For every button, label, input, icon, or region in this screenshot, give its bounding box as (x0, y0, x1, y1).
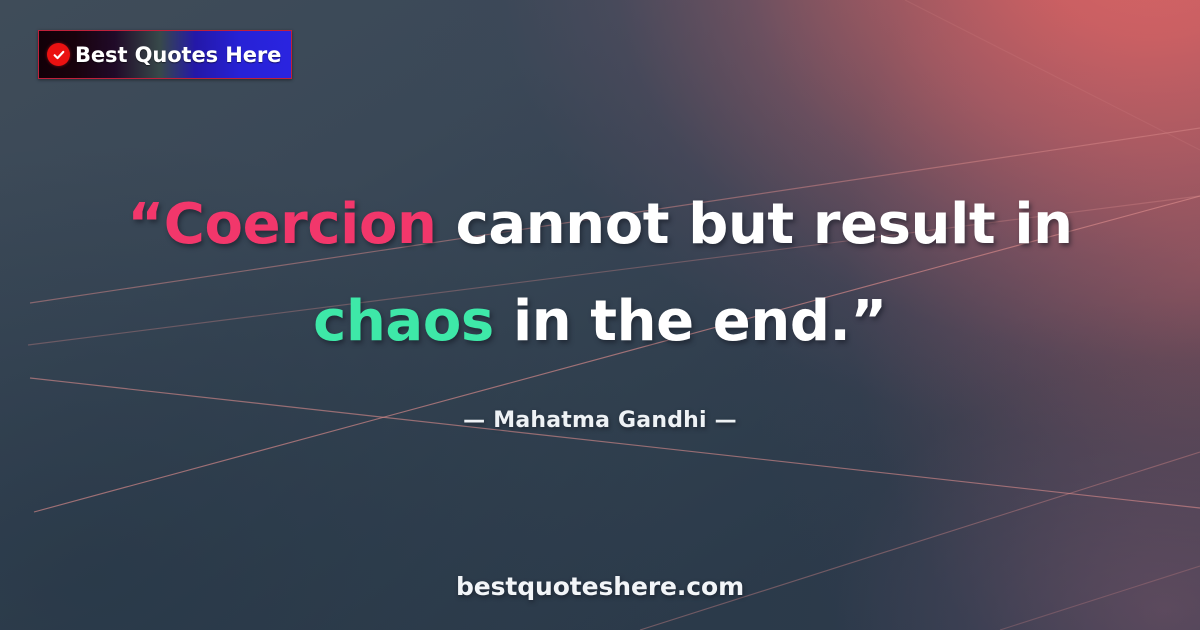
quote-line-2-rest: in the end.” (494, 289, 887, 354)
quote-highlight-coercion: “Coercion (127, 192, 436, 257)
quote-line-2: chaos in the end.” (70, 293, 1130, 350)
check-circle-icon (47, 43, 70, 66)
quote-author: — Mahatma Gandhi — (0, 408, 1200, 433)
quote-block: “Coercion cannot but result in chaos in … (0, 196, 1200, 350)
brand-badge-label: Best Quotes Here (75, 43, 281, 67)
footer-website: bestquoteshere.com (0, 572, 1200, 601)
quote-card: Best Quotes Here “Coercion cannot but re… (0, 0, 1200, 630)
quote-line-1: “Coercion cannot but result in (70, 196, 1130, 253)
quote-highlight-chaos: chaos (313, 289, 494, 354)
brand-badge[interactable]: Best Quotes Here (38, 30, 292, 79)
quote-line-1-rest: cannot but result in (437, 192, 1073, 257)
